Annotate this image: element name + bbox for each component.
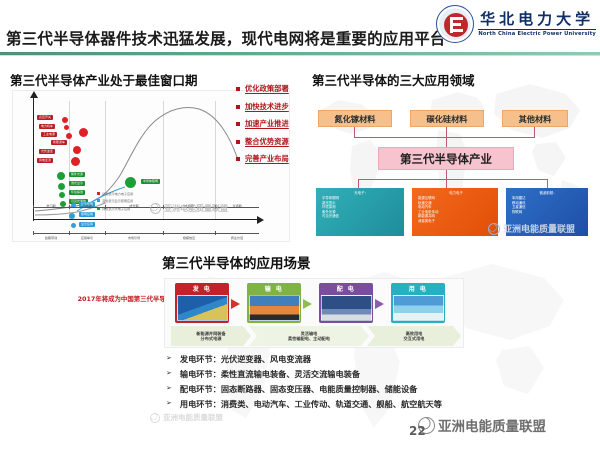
panel-application-fields: 第三代半导体的三大应用领域 氮化镓材料 碳化硅材料 其他材料 第三代半导体产业 … — [300, 62, 598, 252]
phase-tick — [105, 205, 106, 208]
connector — [358, 179, 548, 180]
phase-tick — [33, 231, 34, 234]
phase-label: 成熟期 — [184, 203, 193, 208]
phase-tick — [215, 205, 216, 208]
list-item: 整合优势资源 — [236, 137, 289, 147]
chevron-line-2: 分布式电源 — [201, 336, 222, 341]
chevron-line-2: 柔性输配电、主动配电 — [288, 336, 330, 341]
flow-stage-consumption: 用 电 — [391, 283, 445, 323]
chart-label: 照明应用 — [79, 212, 95, 217]
application-heading: 微波射频： — [512, 191, 584, 195]
university-logo: 华北电力大学 North China Electric Power Univer… — [436, 2, 596, 46]
phase-tick — [163, 205, 164, 208]
flow-arrow-icon — [375, 299, 384, 309]
university-logo-text: 华北电力大学 North China Electric Power Univer… — [478, 11, 596, 37]
legend-swatch-icon — [97, 192, 100, 195]
list-item: ➢ 输电环节：柔性直流输电装备、灵活交流输电装备 — [166, 369, 586, 380]
panel-left-title: 第三代半导体产业处于最佳窗口期 — [10, 70, 198, 89]
list-item: 优化政策部署 — [236, 84, 289, 94]
application-item: 消费类电子 — [418, 219, 494, 223]
phase-label: 应用牵引 — [81, 235, 93, 240]
flow-stage-label: 输 电 — [249, 285, 300, 295]
list-item: ➢ 配电环节：固态断路器、固态变压器、电能质量控制器、储能设备 — [166, 384, 586, 395]
logo-rule — [478, 29, 596, 30]
legend-label: 红色表示电力电子应用 — [102, 191, 133, 196]
chevron-line-2: 交互式用电 — [404, 336, 425, 341]
arrow-bullet-icon: ➢ — [166, 369, 172, 378]
chart-point — [57, 172, 65, 180]
industry-core-box: 第三代半导体产业 — [378, 147, 514, 170]
phase-tick — [69, 205, 70, 208]
phase-axis — [33, 233, 259, 234]
header-divider-secondary — [0, 55, 600, 56]
phase-axis — [33, 207, 259, 208]
phase-label: 学习期 — [46, 203, 55, 208]
bullet-square-icon — [236, 87, 240, 91]
flow-stage-label: 配 电 — [321, 285, 372, 295]
chart-point — [59, 192, 65, 198]
phase-tick — [215, 231, 216, 234]
action-bullet-label: 加速产业推进 — [245, 119, 289, 129]
action-bullet-label: 整合优势资源 — [245, 137, 289, 147]
bullet-square-icon — [236, 140, 240, 144]
phase-tick — [105, 231, 106, 234]
phase-label: 衰退期 — [232, 203, 241, 208]
chart-label: 风电变流 — [37, 158, 53, 163]
chart-label: 环境探测 — [69, 190, 85, 195]
flow-stage-generation: 发 电 — [175, 283, 229, 323]
chart-point — [71, 157, 80, 166]
flow-stage-transmission: 输 电 — [247, 283, 301, 323]
arrow-bullet-icon: ➢ — [166, 399, 172, 408]
phase-label: 形成期 — [82, 203, 91, 208]
chart-label: 激光显示 — [69, 181, 85, 186]
phase-label: 商业价值 — [231, 235, 243, 240]
chart-phase-band-top: 学习期 形成期 成长期 成熟期 衰退期 — [33, 203, 259, 211]
flow-stage-image — [393, 295, 444, 321]
action-bullet-label: 完善产业布局 — [245, 154, 289, 164]
scenario-bullet-list: ➢ 发电环节：光伏逆变器、风电变流器 ➢ 输电环节：柔性直流输电装备、灵活交流输… — [166, 354, 586, 415]
arrow-bullet-icon: ➢ — [166, 354, 172, 363]
flow-arrow-icon — [231, 299, 240, 309]
page-title: 第三代半导体器件技术迅猛发展，现代电网将是重要的应用平台 — [6, 27, 446, 49]
slide-header: 第三代半导体器件技术迅猛发展，现代电网将是重要的应用平台 华北电力大学 Nort… — [0, 0, 600, 56]
phase-tick — [163, 231, 164, 234]
application-box-rf-microwave: 微波射频： 军用雷达 移动通讯 卫星通信 物联网 — [506, 188, 588, 236]
chart-point — [125, 177, 136, 188]
panel-application-scenarios: 第三代半导体的应用场景 发 电 输 电 配 电 用 电 新能源并网装备 分布式电… — [150, 250, 600, 450]
connector — [354, 137, 535, 138]
application-heading: 光电子： — [322, 191, 400, 195]
chart-label: 新能源车 — [51, 140, 67, 145]
legend-item: 红色表示电力电子应用 — [97, 191, 133, 196]
chart-label: 显示应用 — [79, 222, 95, 227]
flow-arrow-icon — [303, 299, 312, 309]
panel-right-title: 第三代半导体的三大应用领域 — [312, 70, 475, 89]
chart-phase-band-bottom: 政策带动 应用牵引 市场引导 规模效应 商业价值 — [33, 229, 259, 237]
phase-tick — [33, 205, 34, 208]
flow-chevron: 新能源并网装备 分布式电源 — [171, 326, 251, 346]
flow-chevron: 高效用电 交互式用电 — [367, 326, 461, 346]
flow-stage-image — [321, 295, 372, 321]
panel-bottom-title: 第三代半导体的应用场景 — [162, 252, 311, 272]
chart-label: 紫外光源 — [69, 172, 85, 177]
chart-label: 光伏逆变 — [39, 149, 55, 154]
material-box-gan: 氮化镓材料 — [318, 110, 392, 127]
university-name-cn: 华北电力大学 — [480, 11, 594, 28]
list-item: 加速产业推进 — [236, 119, 289, 129]
chart-point — [62, 117, 68, 123]
flow-chevron-band: 新能源并网装备 分布式电源 灵活输电 柔性输配电、主动配电 高效用电 交互式用电 — [171, 326, 461, 346]
chart-label: 高压开关 — [37, 115, 53, 120]
phase-label: 成长期 — [129, 203, 138, 208]
application-item: 可见光通信 — [322, 214, 400, 218]
phase-label: 政策带动 — [45, 235, 57, 240]
action-bullet-list: 优化政策部署 加快技术进步 加速产业推进 整合优势资源 完善产业布局 — [236, 84, 289, 172]
flow-stage-distribution: 配 电 — [319, 283, 373, 323]
phase-tick — [69, 231, 70, 234]
chart-point — [64, 125, 69, 130]
chart-label: 电力机车 — [39, 124, 55, 129]
bullet-square-icon — [236, 157, 240, 161]
chart-point — [69, 213, 75, 219]
application-heading: 电力电子 — [418, 191, 494, 195]
material-box-sic: 碳化硅材料 — [410, 110, 484, 127]
bullet-square-icon — [236, 105, 240, 109]
chart-point — [73, 146, 81, 154]
university-name-en: North China Electric Power University — [478, 31, 596, 37]
flow-chevron: 灵活输电 柔性输配电、主动配电 — [249, 326, 369, 346]
flow-stage-image — [249, 295, 300, 321]
panel-industry-window: 第三代半导体产业处于最佳窗口期 高压开关 电力机车 工业电源 新能源车 光伏逆变… — [6, 62, 296, 247]
list-item: 完善产业布局 — [236, 154, 289, 164]
action-bullet-label: 优化政策部署 — [245, 84, 289, 94]
scenario-bullet-label: 输电环节：柔性直流输电装备、灵活交流输电装备 — [180, 369, 360, 380]
bullet-square-icon — [236, 122, 240, 126]
power-grid-flow-diagram: 发 电 输 电 配 电 用 电 新能源并网装备 分布式电源 灵活输电 柔性输配电… — [164, 278, 464, 348]
chart-label: 半导体照明 — [141, 179, 160, 184]
application-item: 物联网 — [512, 210, 584, 214]
list-item: 加快技术进步 — [236, 102, 289, 112]
chart-point — [66, 133, 72, 139]
phase-label: 规模效应 — [183, 235, 195, 240]
slide-page-number: 22 — [409, 424, 426, 438]
chart-point — [71, 223, 76, 228]
scenario-bullet-label: 用电环节：消费类、电动汽车、工业传动、轨道交通、舰船、航空航天等 — [180, 399, 442, 410]
flow-stage-image — [177, 295, 228, 321]
scenario-bullet-label: 发电环节：光伏逆变器、风电变流器 — [180, 354, 311, 365]
application-box-power-electronics: 电力电子 能源互联网 轨道交通 电动汽车 工业电机传动 新能源并网 消费类电子 — [412, 188, 498, 236]
arrow-bullet-icon: ➢ — [166, 384, 172, 393]
phase-label: 市场引导 — [128, 235, 140, 240]
chart-label: 工业电源 — [41, 132, 57, 137]
list-item: ➢ 用电环节：消费类、电动汽车、工业传动、轨道交通、舰船、航空航天等 — [166, 399, 586, 410]
flow-stage-label: 发 电 — [177, 285, 228, 295]
scenario-bullet-label: 配电环节：固态断路器、固态变压器、电能质量控制器、储能设备 — [180, 384, 417, 395]
material-box-other: 其他材料 — [502, 110, 568, 127]
application-box-optoelectronics: 光电子： 半导体照明 激光显示 环境探测 紫外光源 可见光通信 — [316, 188, 404, 236]
university-seal-icon — [436, 5, 474, 43]
list-item: ➢ 发电环节：光伏逆变器、风电变流器 — [166, 354, 586, 365]
chart-point — [58, 183, 65, 190]
flow-stage-label: 用 电 — [393, 285, 444, 295]
legend-swatch-icon — [97, 199, 100, 202]
action-bullet-label: 加快技术进步 — [245, 102, 289, 112]
chart-point — [79, 128, 88, 137]
